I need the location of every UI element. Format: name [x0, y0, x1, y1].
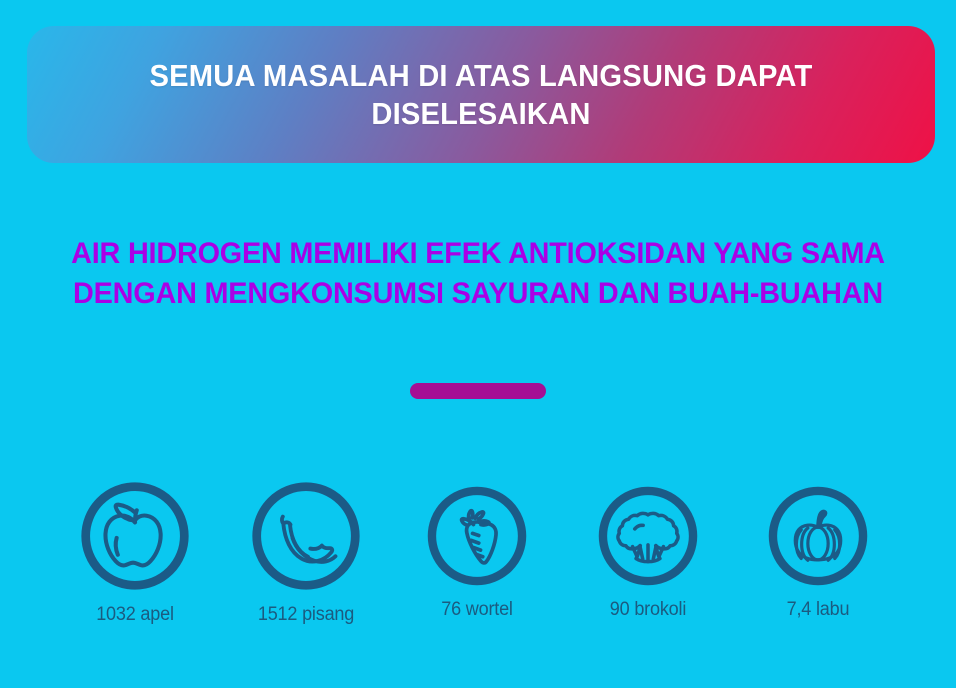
icon-label-carrot: 76 wortel: [396, 599, 558, 621]
icon-item-banana: 1512 pisang: [221, 478, 391, 626]
icon-label-pumpkin: 7,4 labu: [737, 599, 899, 621]
icon-label-apple: 1032 apel: [54, 604, 216, 626]
banana-icon: [248, 478, 364, 594]
header-banner: SEMUA MASALAH DI ATAS LANGSUNG DAPAT DIS…: [27, 26, 935, 163]
icon-label-broccoli: 90 brokoli: [567, 599, 729, 621]
broccoli-icon: [595, 483, 701, 589]
apple-icon: [77, 478, 193, 594]
icon-item-broccoli: 90 brokoli: [563, 478, 733, 621]
carrot-icon: [424, 483, 530, 589]
pumpkin-icon: [765, 483, 871, 589]
section-divider: [410, 383, 546, 399]
icon-item-carrot: 76 wortel: [392, 478, 562, 621]
icon-label-banana: 1512 pisang: [225, 604, 387, 626]
banner-title: SEMUA MASALAH DI ATAS LANGSUNG DAPAT DIS…: [103, 57, 859, 133]
equivalence-icon-row: 1032 apel 1512 pisang: [0, 478, 956, 653]
icon-item-pumpkin: 7,4 labu: [733, 478, 903, 621]
headline-text: AIR HIDROGEN MEMILIKI EFEK ANTIOKSIDAN Y…: [36, 234, 919, 314]
icon-item-apple: 1032 apel: [50, 478, 220, 626]
